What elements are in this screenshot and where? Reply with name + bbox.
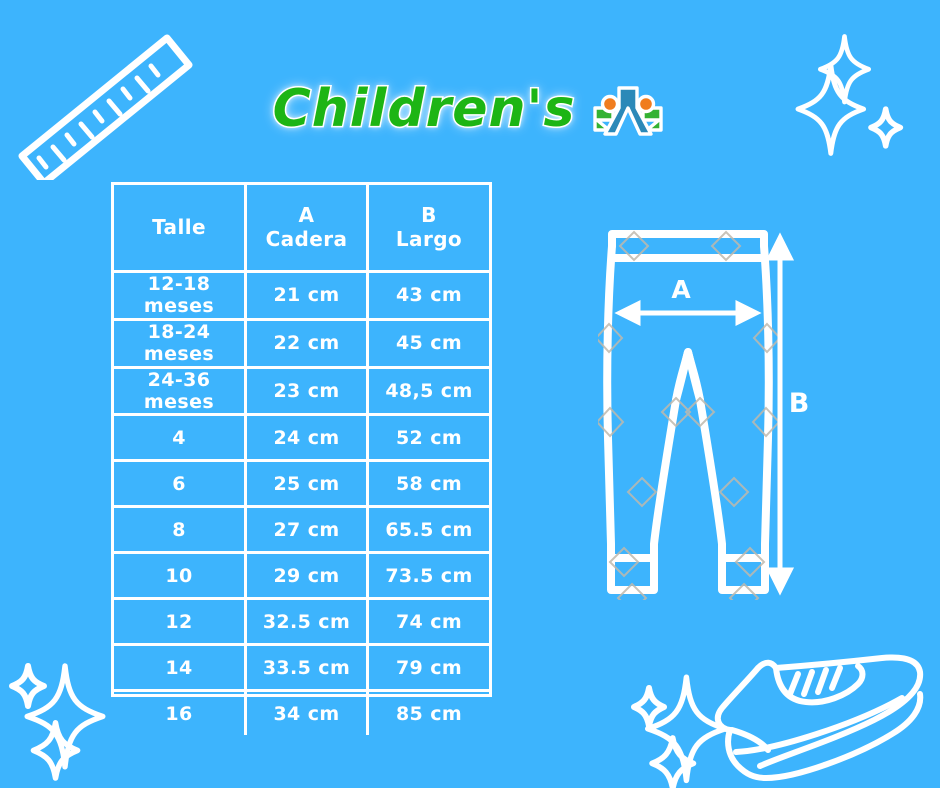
cell-size: 24-36 meses	[114, 369, 247, 414]
header-a-letter: A	[299, 204, 315, 228]
header-a-label: Cadera	[266, 228, 348, 252]
cell-size: 6	[114, 462, 247, 505]
cell-a: 29 cm	[247, 554, 369, 597]
table-row: 24-36 meses 23 cm 48,5 cm	[114, 369, 489, 417]
cell-size: 18-24 meses	[114, 321, 247, 366]
table-row: 10 29 cm 73.5 cm	[114, 554, 489, 600]
cell-b: 65.5 cm	[369, 508, 489, 551]
brand-header: Children's	[0, 68, 940, 150]
cell-b: 85 cm	[369, 692, 489, 735]
cell-size: 12	[114, 600, 247, 643]
cell-b: 74 cm	[369, 600, 489, 643]
size-chart-graphic: Children's Talle A Cadera	[0, 0, 940, 788]
cell-size: 16	[114, 692, 247, 735]
header-cell-a: A Cadera	[247, 185, 369, 270]
cell-size: 12-18 meses	[114, 273, 247, 318]
table-row: 16 34 cm 85 cm	[114, 692, 489, 735]
table-row: 12 32.5 cm 74 cm	[114, 600, 489, 646]
header-cell-size: Talle	[114, 185, 247, 270]
sneaker-icon	[706, 638, 938, 788]
table-row: 4 24 cm 52 cm	[114, 416, 489, 462]
horizontal-double-arrow-icon	[620, 304, 756, 322]
size-table: Talle A Cadera B Largo 12-18 meses 21 cm…	[111, 182, 492, 697]
cell-b: 45 cm	[369, 321, 489, 366]
cell-a: 34 cm	[247, 692, 369, 735]
cell-size: 4	[114, 416, 247, 459]
cell-a: 21 cm	[247, 273, 369, 318]
cell-a: 32.5 cm	[247, 600, 369, 643]
header-b-label: Largo	[396, 228, 462, 252]
cell-b: 52 cm	[369, 416, 489, 459]
cell-a: 33.5 cm	[247, 646, 369, 689]
cell-b: 58 cm	[369, 462, 489, 505]
measure-a-label: A	[660, 275, 702, 304]
table-row: 18-24 meses 22 cm 45 cm	[114, 321, 489, 369]
sparkle-icon	[622, 650, 758, 788]
table-row: 14 33.5 cm 79 cm	[114, 646, 489, 692]
cell-size: 8	[114, 508, 247, 551]
cell-a: 27 cm	[247, 508, 369, 551]
measure-b-label: B	[782, 388, 816, 419]
cell-a: 22 cm	[247, 321, 369, 366]
table-header-row: Talle A Cadera B Largo	[114, 185, 489, 273]
two-children-figures-icon	[589, 78, 667, 140]
header-cell-b: B Largo	[369, 185, 489, 270]
cell-b: 48,5 cm	[369, 369, 489, 414]
table-row: 6 25 cm 58 cm	[114, 462, 489, 508]
cell-b: 79 cm	[369, 646, 489, 689]
table-row: 8 27 cm 65.5 cm	[114, 508, 489, 554]
header-b-letter: B	[421, 204, 437, 228]
cell-a: 23 cm	[247, 369, 369, 414]
cell-size: 10	[114, 554, 247, 597]
cell-b: 73.5 cm	[369, 554, 489, 597]
cell-b: 43 cm	[369, 273, 489, 318]
cell-a: 24 cm	[247, 416, 369, 459]
brand-wordmark: Children's	[273, 79, 576, 139]
cell-a: 25 cm	[247, 462, 369, 505]
table-row: 12-18 meses 21 cm 43 cm	[114, 273, 489, 321]
cell-size: 14	[114, 646, 247, 689]
header-size-label: Talle	[152, 216, 206, 240]
